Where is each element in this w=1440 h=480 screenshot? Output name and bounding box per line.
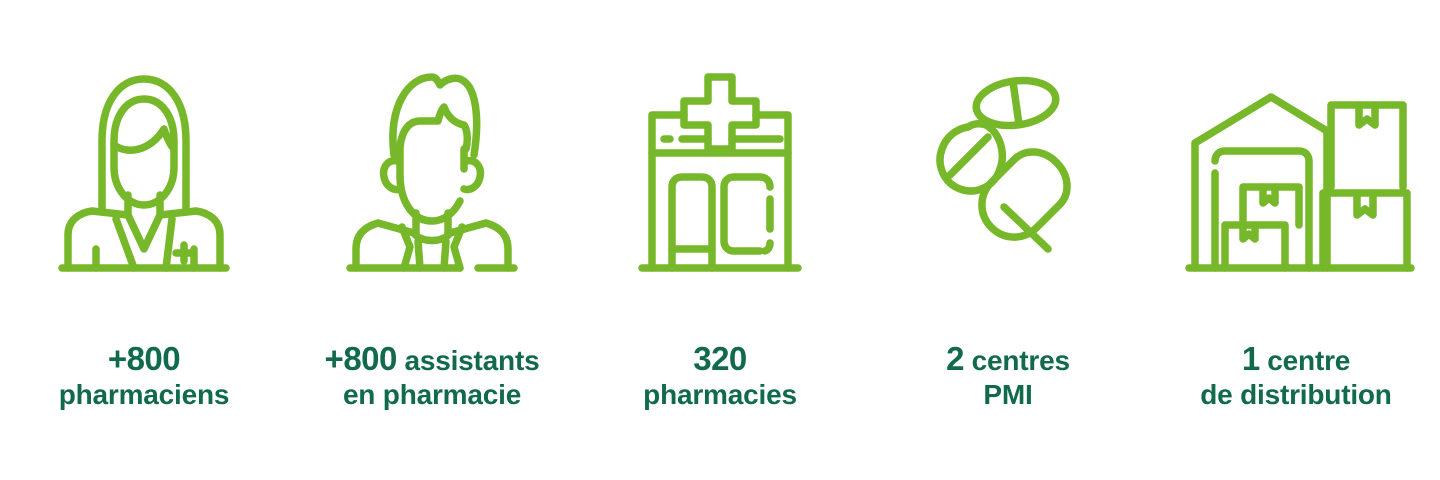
stat-line-2: pharmacies xyxy=(643,379,797,412)
stat-number: 320 xyxy=(693,340,747,377)
male-pharmacy-assistant-icon xyxy=(288,58,576,278)
stat-line-2: en pharmacie xyxy=(325,379,540,412)
stat-label-pharmacies: 320 pharmacies xyxy=(637,340,803,411)
stat-item-pharmacies: 320 pharmacies xyxy=(576,0,864,480)
stat-line-1: +800 assistants xyxy=(325,340,540,379)
stat-label-centres-pmi: 2 centres PMI xyxy=(940,340,1076,411)
stat-number: +800 xyxy=(108,340,180,377)
stat-line-2: PMI xyxy=(946,379,1070,412)
stat-line-1: +800 xyxy=(59,340,230,379)
stat-number: 2 xyxy=(946,340,964,377)
stats-strip: +800 pharmaciens xyxy=(0,0,1440,480)
stat-item-centre-distribution: 1 centre de distribution xyxy=(1152,0,1440,480)
stat-line-1-text: centres xyxy=(972,345,1070,376)
female-pharmacist-icon xyxy=(0,58,288,278)
stat-line-1-text: centre xyxy=(1267,345,1350,376)
pills-capsule-icon xyxy=(864,58,1152,278)
stat-line-1-text: assistants xyxy=(404,345,539,376)
pharmacy-storefront-icon xyxy=(576,58,864,278)
stat-item-centres-pmi: 2 centres PMI xyxy=(864,0,1152,480)
stat-line-1: 320 xyxy=(643,340,797,379)
stat-line-1: 1 centre xyxy=(1200,340,1391,379)
stat-line-2: de distribution xyxy=(1200,379,1391,412)
stat-number: 1 xyxy=(1242,340,1260,377)
stat-line-2: pharmaciens xyxy=(59,379,230,412)
stat-line-1: 2 centres xyxy=(946,340,1070,379)
stat-number: +800 xyxy=(325,340,397,377)
stat-label-pharmaciens: +800 pharmaciens xyxy=(53,340,236,411)
stat-label-centre-distribution: 1 centre de distribution xyxy=(1194,340,1397,411)
stat-item-assistants: +800 assistants en pharmacie xyxy=(288,0,576,480)
warehouse-boxes-icon xyxy=(1152,58,1440,278)
stat-item-pharmaciens: +800 pharmaciens xyxy=(0,0,288,480)
stat-label-assistants: +800 assistants en pharmacie xyxy=(319,340,546,411)
